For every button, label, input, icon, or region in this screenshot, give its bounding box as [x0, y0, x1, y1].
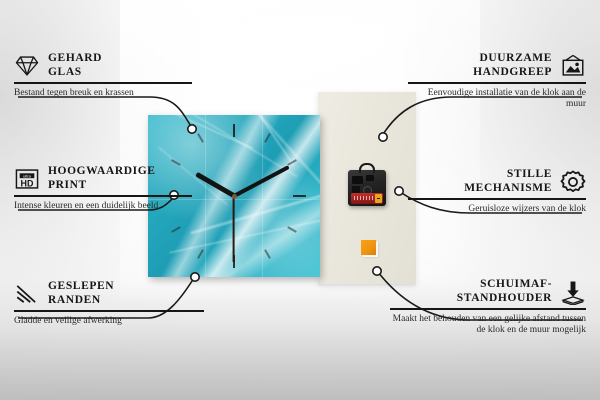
- foam-spacer-icon: [361, 240, 376, 255]
- infographic-canvas: GEHARD GLAS Bestand tegen breuk en krass…: [0, 0, 600, 400]
- feature-header: GESLEPEN RANDEN: [14, 280, 204, 307]
- feature-hoogwaardige-print[interactable]: ultra HD HOOGWAARDIGE PRINT Intense kleu…: [14, 165, 192, 212]
- feature-geslepen-randen[interactable]: GESLEPEN RANDEN Gladde en veilige afwerk…: [14, 280, 204, 327]
- feature-stille-mechanisme[interactable]: STILLE MECHANISME Geruisloze wijzers van…: [408, 168, 586, 215]
- movement-slot: [352, 176, 363, 184]
- feature-description: Bestand tegen breuk en krassen: [14, 88, 192, 100]
- feature-title-line2: STANDHOUDER: [457, 292, 552, 306]
- bevelled-edges-icon: [14, 281, 40, 307]
- feature-header: GEHARD GLAS: [14, 52, 192, 79]
- feature-description: Eenvoudige installatie van de klok aan d…: [408, 88, 586, 111]
- movement-slot: [352, 186, 360, 193]
- hanging-hook-icon: [359, 163, 375, 173]
- press-down-icon: [560, 279, 586, 305]
- feature-title-line1: GEHARD: [48, 52, 102, 66]
- picture-frame-icon: [560, 53, 586, 79]
- feature-title-line1: STILLE: [464, 168, 552, 182]
- feature-schuimafstandhouder[interactable]: SCHUIMAF- STANDHOUDER Maakt het behouden…: [390, 278, 586, 337]
- feature-title-line1: HOOGWAARDIGE: [48, 165, 156, 179]
- feature-title: SCHUIMAF- STANDHOUDER: [457, 278, 552, 305]
- feature-description: Intense kleuren en een duidelijk beeld: [14, 201, 192, 213]
- pattern-streak: [190, 190, 320, 234]
- movement-slot: [366, 175, 374, 181]
- feature-header: ultra HD HOOGWAARDIGE PRINT: [14, 165, 192, 192]
- feature-title-line1: GESLEPEN: [48, 280, 114, 294]
- feature-divider: [14, 310, 204, 312]
- battery-terminal: [375, 194, 382, 203]
- feature-title: GESLEPEN RANDEN: [48, 280, 114, 307]
- clock-second-hand: [233, 196, 235, 262]
- feature-title: GEHARD GLAS: [48, 52, 102, 79]
- feature-divider: [14, 195, 192, 197]
- feature-header: DUURZAME HANDGREEP: [408, 52, 586, 79]
- feature-title-line2: HANDGREEP: [473, 66, 552, 80]
- feature-title-line2: MECHANISME: [464, 182, 552, 196]
- clock-tick-3: [234, 195, 306, 197]
- feature-gehard-glas[interactable]: GEHARD GLAS Bestand tegen breuk en krass…: [14, 52, 192, 99]
- feature-divider: [14, 82, 192, 84]
- feature-title: DUURZAME HANDGREEP: [473, 52, 552, 79]
- feature-title-line2: PRINT: [48, 179, 156, 193]
- feature-description: Gladde en veilige afwerking: [14, 316, 204, 328]
- ultra-hd-icon: ultra HD: [14, 166, 40, 192]
- feature-header: SCHUIMAF- STANDHOUDER: [390, 278, 586, 305]
- feature-title: HOOGWAARDIGE PRINT: [48, 165, 156, 192]
- feature-description: Maakt het behouden van een gelijke afsta…: [390, 314, 586, 337]
- feature-title-line1: SCHUIMAF-: [457, 278, 552, 292]
- feature-title: STILLE MECHANISME: [464, 168, 552, 195]
- feature-divider: [408, 198, 586, 200]
- clock-center-cap: [232, 194, 237, 199]
- battery-icon: [351, 193, 383, 204]
- feature-divider: [408, 82, 586, 84]
- feature-description: Geruisloze wijzers van de klok: [408, 204, 586, 216]
- pattern-streak: [170, 218, 320, 253]
- gear-icon: [560, 169, 586, 195]
- feature-duurzame-handgreep[interactable]: DUURZAME HANDGREEP Eenvoudige installati…: [408, 52, 586, 111]
- quartz-movement-icon: [348, 170, 386, 206]
- battery-label: [354, 196, 376, 200]
- clock-tick-12: [233, 124, 235, 196]
- feature-header: STILLE MECHANISME: [408, 168, 586, 195]
- feature-title-line2: GLAS: [48, 66, 102, 80]
- feature-title-line1: DUURZAME: [473, 52, 552, 66]
- pattern-streak: [148, 115, 253, 149]
- pattern-streak: [253, 115, 320, 205]
- feature-title-line2: RANDEN: [48, 294, 114, 308]
- svg-text:HD: HD: [21, 178, 34, 188]
- feature-divider: [390, 308, 586, 310]
- diamond-icon: [14, 53, 40, 79]
